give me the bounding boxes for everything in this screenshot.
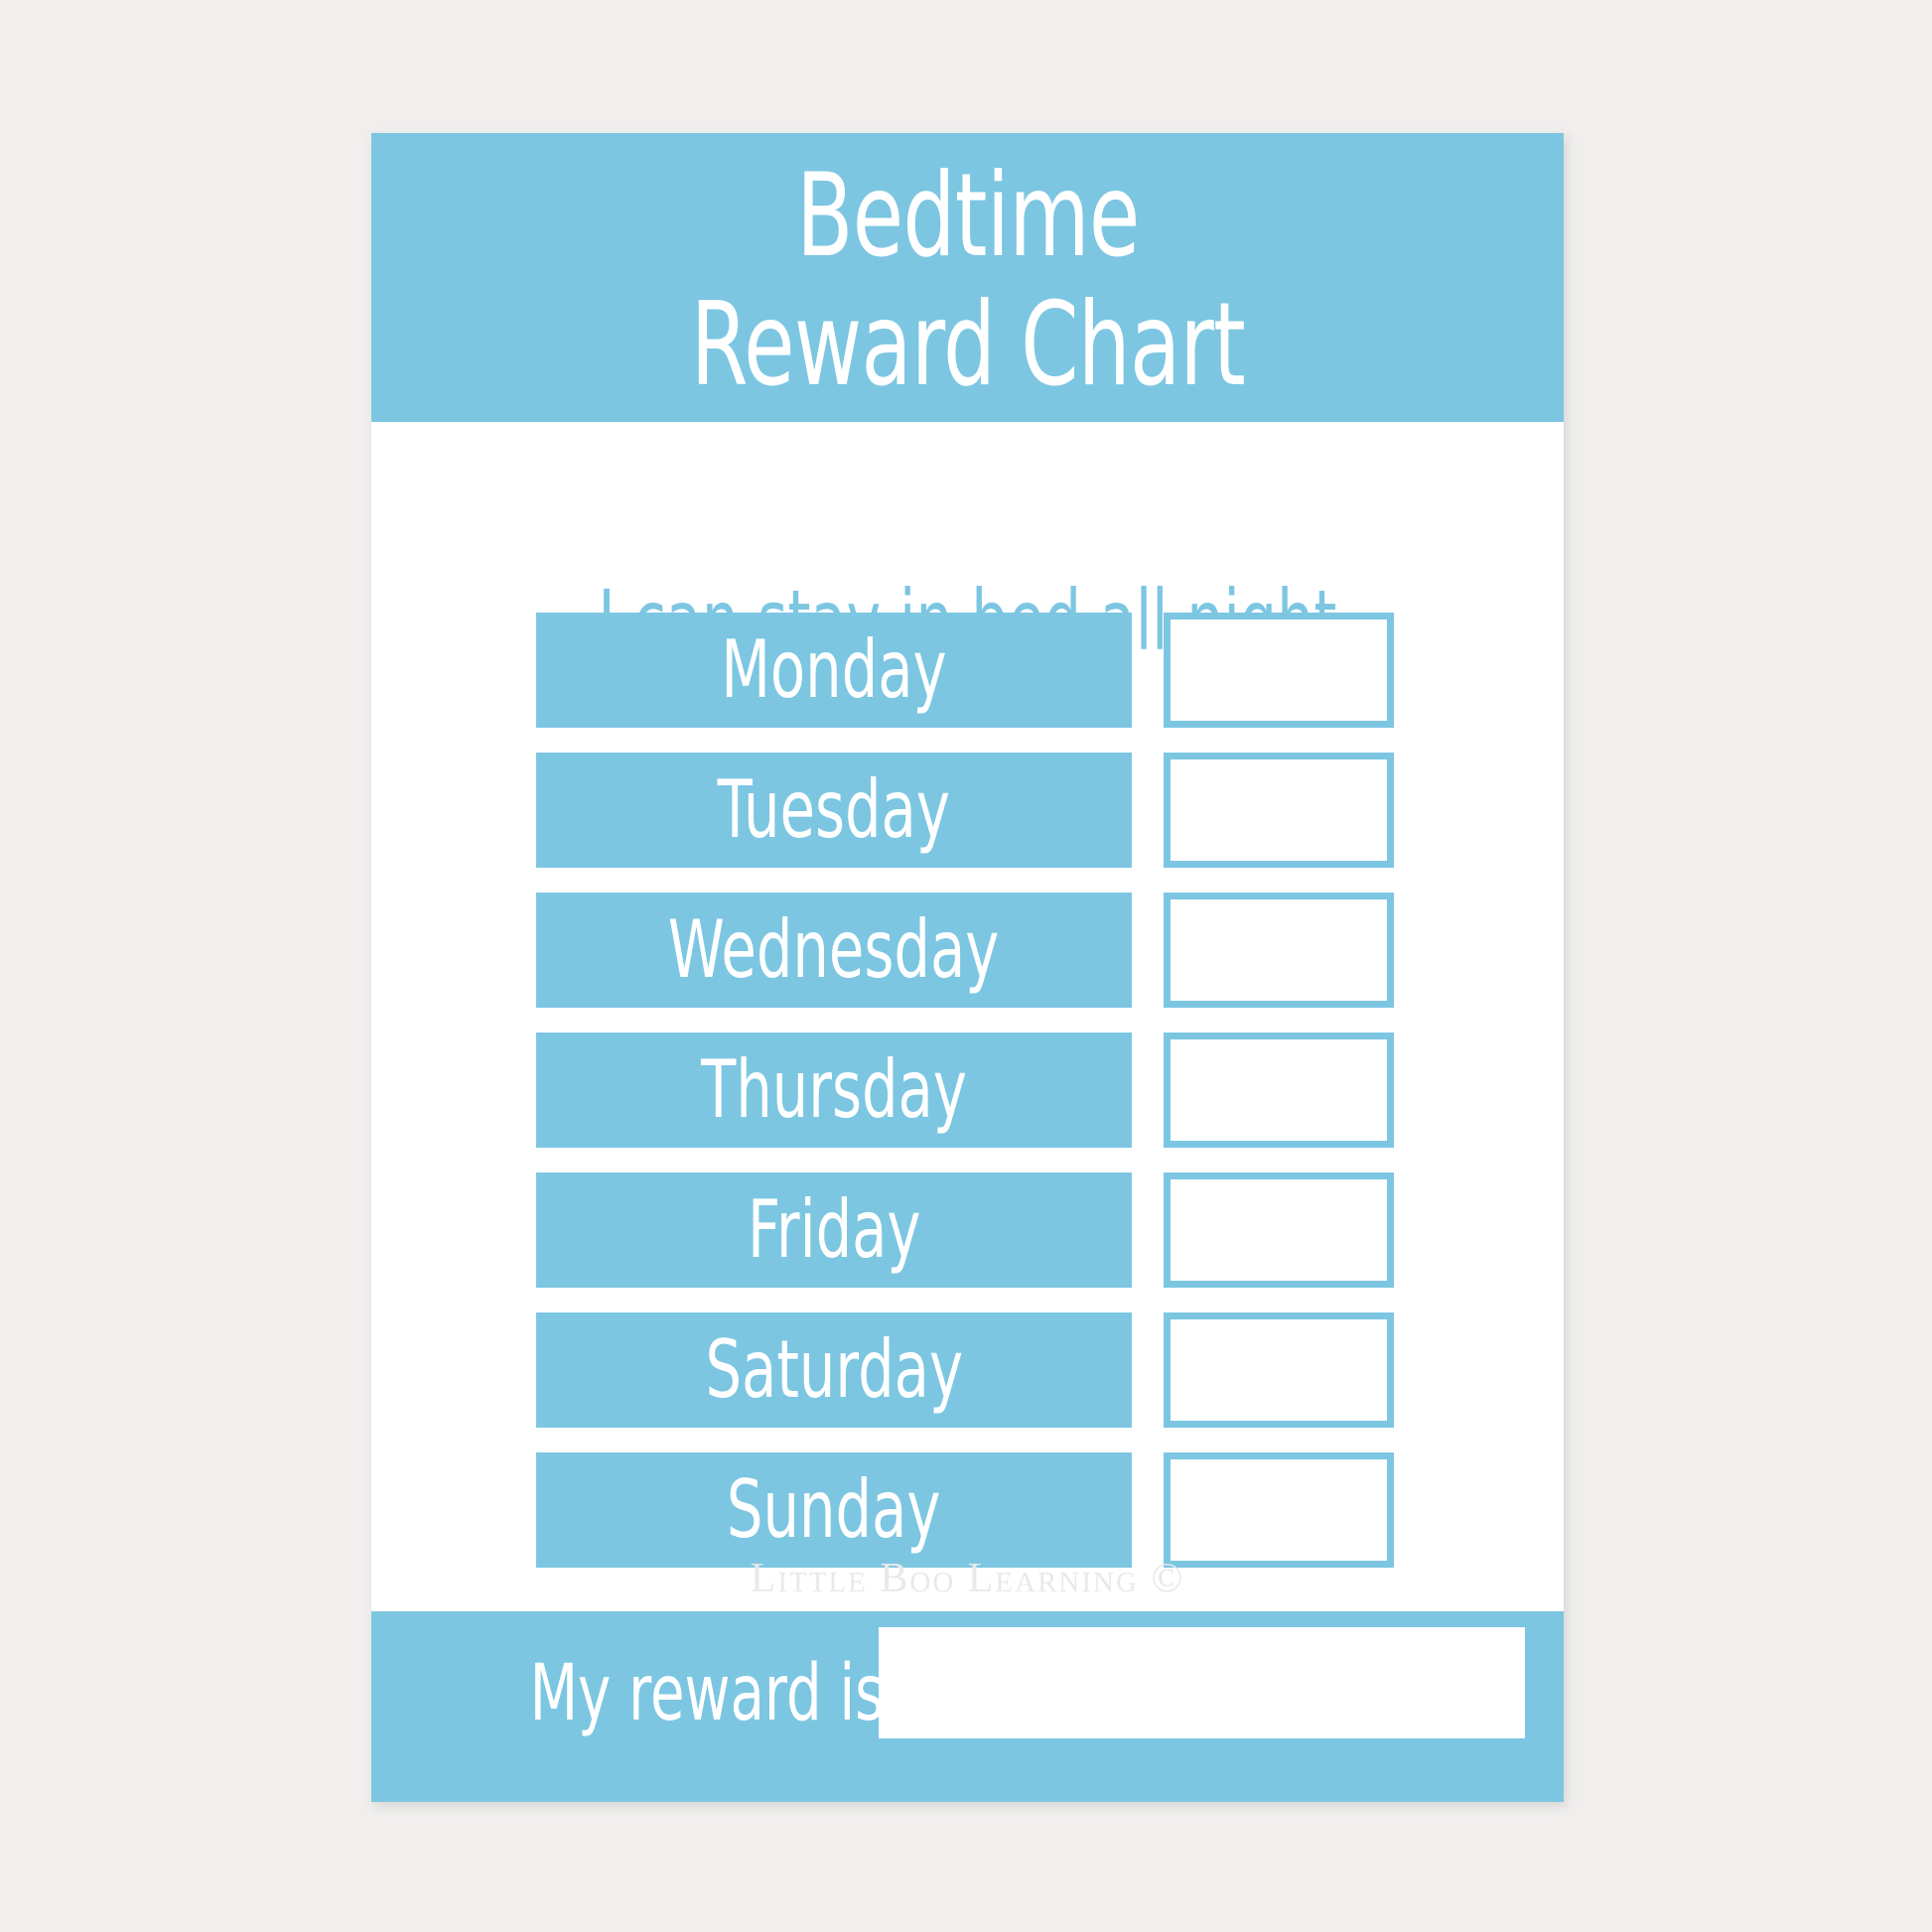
day-rows-list: Monday Tuesday Wednesday Thursday [371,613,1564,1592]
day-row: Friday [371,1173,1564,1288]
day-label-text: Tuesday [718,770,950,850]
day-row: Thursday [371,1033,1564,1148]
day-checkbox-wednesday[interactable] [1164,893,1394,1008]
day-label-tuesday: Tuesday [536,753,1132,868]
day-label-text: Wednesday [668,910,999,990]
day-checkbox-sunday[interactable] [1164,1452,1394,1568]
chart-header: Bedtime Reward Chart [371,133,1564,422]
chart-title-line-1: Bedtime [796,159,1139,274]
day-checkbox-friday[interactable] [1164,1173,1394,1288]
day-row: Wednesday [371,893,1564,1008]
day-label-text: Thursday [701,1050,967,1130]
day-label-friday: Friday [536,1173,1132,1288]
day-label-monday: Monday [536,613,1132,728]
day-checkbox-monday[interactable] [1164,613,1394,728]
day-label-text: Saturday [705,1330,963,1410]
day-row: Monday [371,613,1564,728]
day-row: Tuesday [371,753,1564,868]
day-label-sunday: Sunday [536,1452,1132,1568]
day-checkbox-tuesday[interactable] [1164,753,1394,868]
page-canvas: Bedtime Reward Chart I can stay in bed a… [0,0,1932,1932]
reward-footer: My reward is... [371,1611,1564,1802]
day-label-wednesday: Wednesday [536,893,1132,1008]
day-checkbox-thursday[interactable] [1164,1033,1394,1148]
chart-title-line-2: Reward Chart [690,288,1244,403]
day-label-text: Monday [721,630,946,710]
day-label-thursday: Thursday [536,1033,1132,1148]
reward-input-field[interactable] [879,1627,1525,1738]
reward-label-text: My reward is... [530,1655,937,1732]
day-checkbox-saturday[interactable] [1164,1312,1394,1428]
day-label-text: Sunday [727,1470,941,1550]
day-label-text: Friday [748,1190,921,1270]
reward-label: My reward is... [371,1655,879,1732]
brand-watermark: Little Boo Learning © [371,1555,1564,1602]
day-row: Sunday [371,1452,1564,1568]
day-label-saturday: Saturday [536,1312,1132,1428]
day-row: Saturday [371,1312,1564,1428]
reward-chart-card: Bedtime Reward Chart I can stay in bed a… [371,133,1564,1802]
